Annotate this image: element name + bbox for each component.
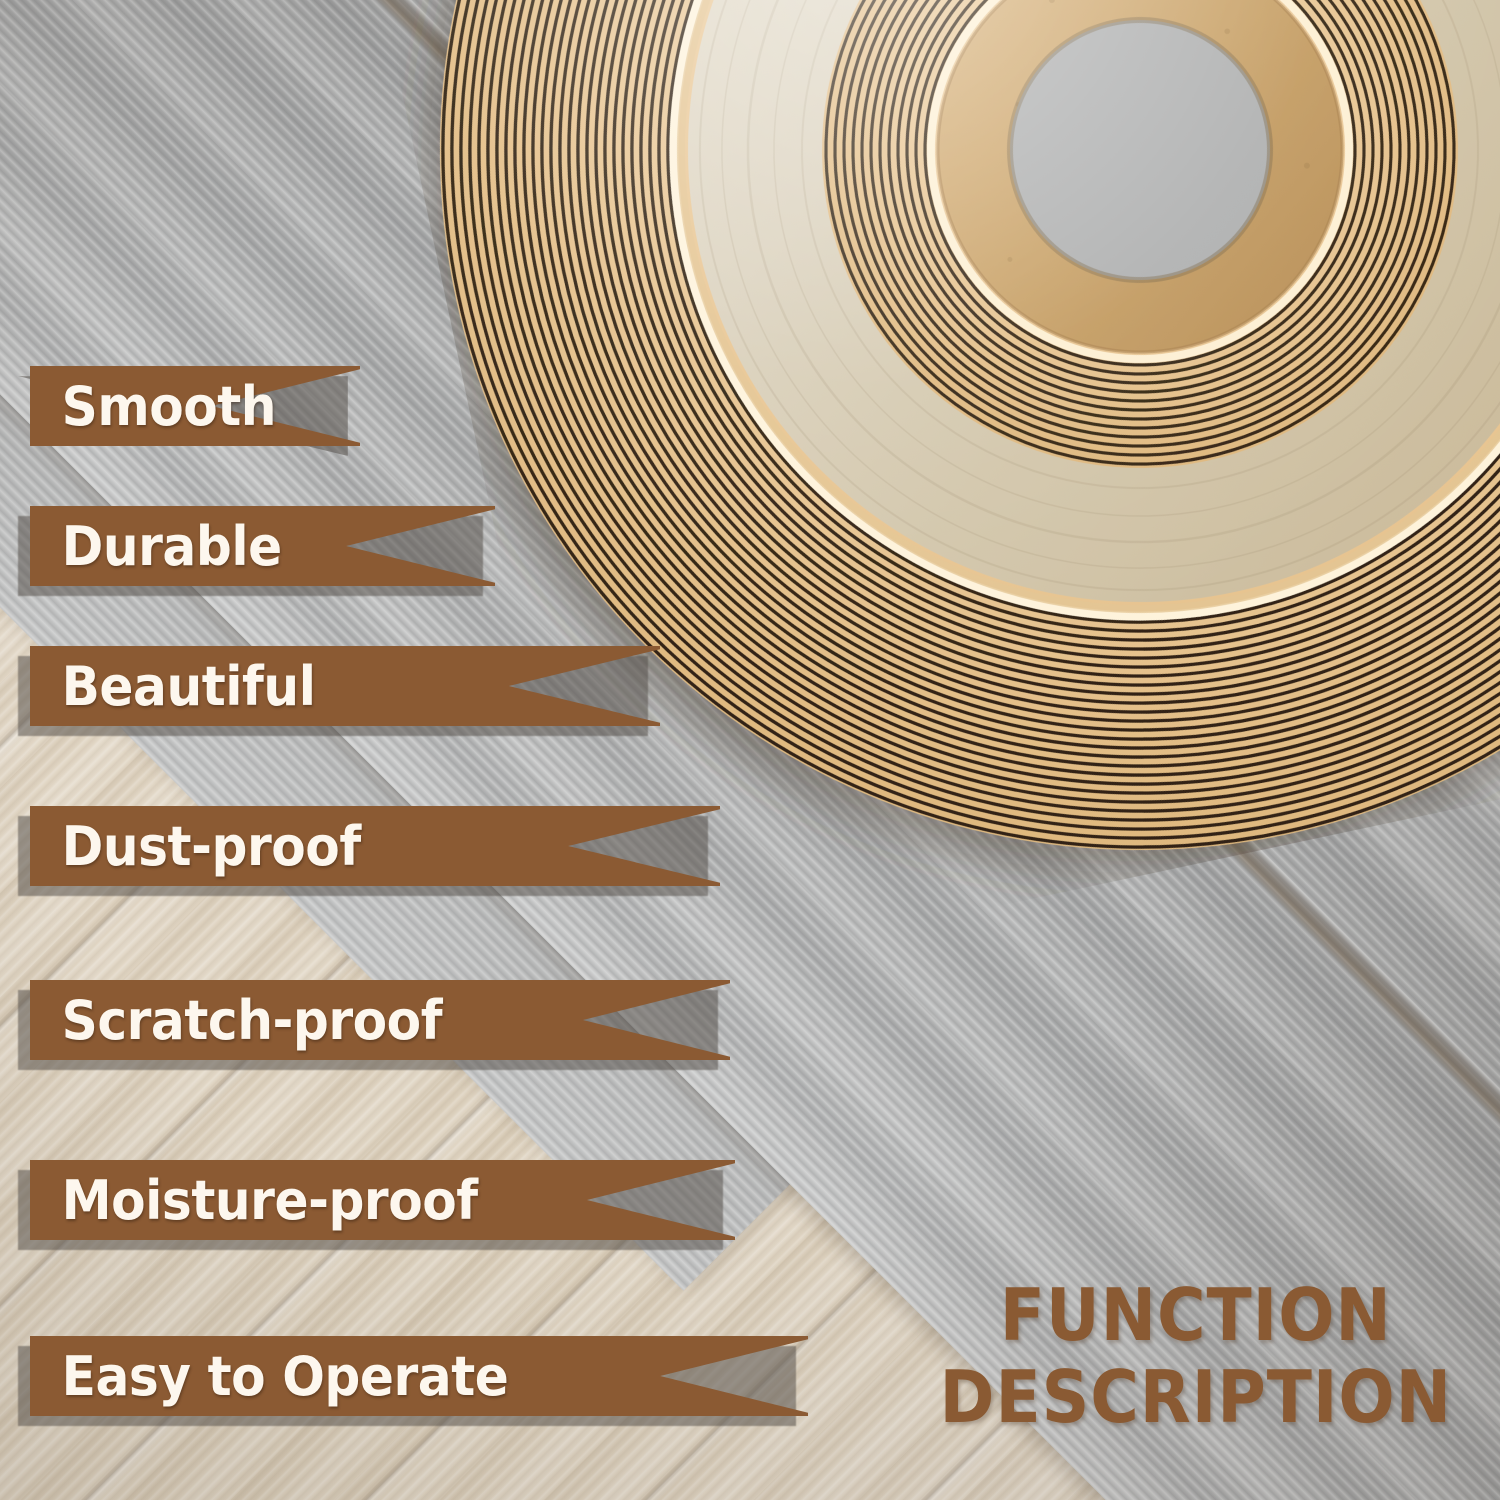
product-image-canvas: Smooth Durable Beautiful Dust-proof Scra… xyxy=(0,0,1500,1500)
feature-banner[interactable]: Beautiful xyxy=(30,646,660,726)
feature-label: Durable xyxy=(30,515,282,578)
heading-line-2: DESCRIPTION xyxy=(940,1357,1452,1438)
feature-label: Smooth xyxy=(30,375,276,438)
feature-banner[interactable]: Scratch-proof xyxy=(30,980,730,1060)
feature-banner[interactable]: Durable xyxy=(30,506,495,586)
feature-banner[interactable]: Dust-proof xyxy=(30,806,720,886)
feature-banner[interactable]: Smooth xyxy=(30,366,360,446)
feature-label: Easy to Operate xyxy=(30,1345,508,1408)
feature-label: Dust-proof xyxy=(30,815,361,878)
feature-banner[interactable]: Easy to Operate xyxy=(30,1336,808,1416)
feature-label: Moisture-proof xyxy=(30,1169,478,1232)
feature-label: Beautiful xyxy=(30,655,315,718)
feature-banner[interactable]: Moisture-proof xyxy=(30,1160,735,1240)
heading-line-1: FUNCTION xyxy=(940,1275,1452,1356)
feature-label: Scratch-proof xyxy=(30,989,442,1052)
function-description-heading: FUNCTION DESCRIPTION xyxy=(940,1275,1452,1438)
